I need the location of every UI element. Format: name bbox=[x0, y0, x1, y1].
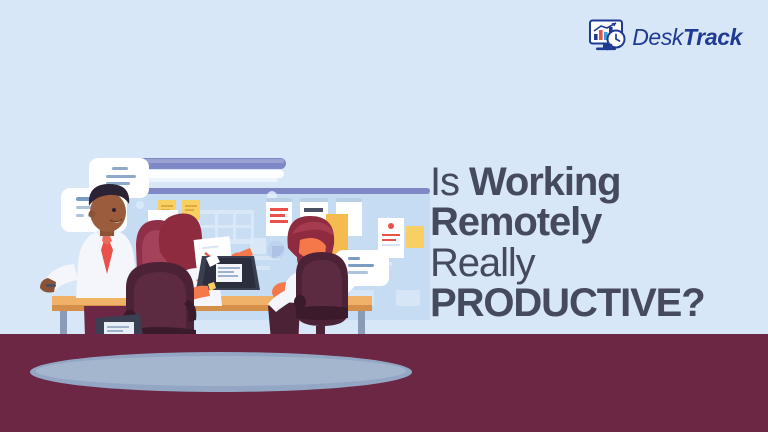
blog-banner: DeskTrack Is Working Remotely Really PRO… bbox=[0, 0, 768, 432]
headline-line-2: Remotely bbox=[430, 203, 750, 241]
logo-text-track: Track bbox=[683, 24, 742, 50]
logo-wordmark: DeskTrack bbox=[632, 24, 742, 51]
headline-line-4: PRODUCTIVE? bbox=[430, 284, 750, 322]
headline-word-working: Working bbox=[469, 160, 621, 204]
headline: Is Working Remotely Really PRODUCTIVE? bbox=[430, 163, 750, 323]
desktrack-logo[interactable]: DeskTrack bbox=[588, 18, 742, 56]
desktrack-monitor-chart-clock-icon bbox=[588, 19, 630, 55]
headline-line-1: Is Working bbox=[430, 163, 750, 201]
floor-rug-highlight bbox=[36, 356, 406, 386]
headline-line-3: Really bbox=[430, 244, 750, 282]
headline-word-is: Is bbox=[430, 160, 469, 204]
logo-text-desk: Desk bbox=[632, 24, 683, 50]
